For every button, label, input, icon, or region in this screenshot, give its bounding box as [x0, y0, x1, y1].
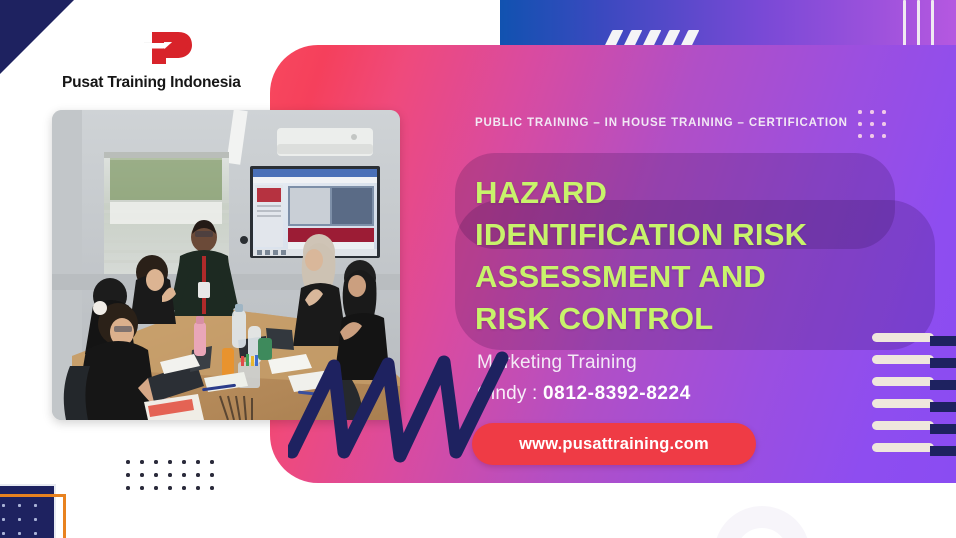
brand-name: Pusat Training Indonesia	[62, 74, 282, 92]
page-title: HAZARD IDENTIFICATION RISK ASSESSMENT AN…	[475, 172, 895, 340]
promotional-banner: Pusat Training Indonesia PUBLIC TRAINING…	[0, 0, 956, 538]
eyebrow-text: PUBLIC TRAINING – IN HOUSE TRAINING – CE…	[475, 117, 848, 129]
dot-grid-decoration-bottom	[126, 460, 224, 499]
contact-phone: 0812-8392-8224	[543, 383, 691, 404]
scribble-decoration	[288, 330, 548, 490]
ring-decoration	[714, 506, 810, 538]
bar-stack-decoration	[872, 330, 956, 462]
orange-square-outline-decoration	[0, 494, 66, 538]
top-gradient-strip	[500, 0, 956, 46]
headline-line-2: IDENTIFICATION RISK	[475, 214, 895, 256]
headline-line-1: HAZARD	[475, 172, 895, 214]
headline-line-3: ASSESSMENT AND	[475, 256, 895, 298]
speed-p-logo-icon	[138, 28, 196, 68]
brand-logo-block: Pusat Training Indonesia	[62, 28, 282, 92]
dot-grid-decoration-top	[858, 110, 894, 146]
